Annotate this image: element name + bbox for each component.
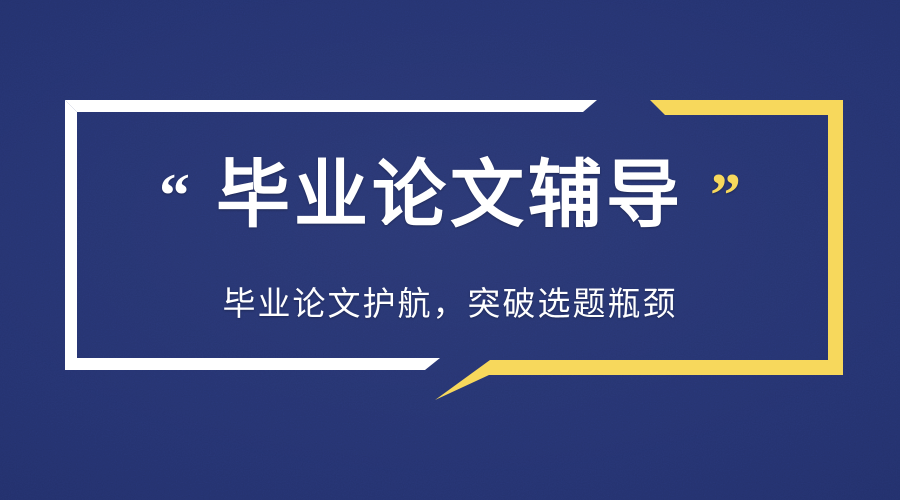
- promo-banner: “ 毕业论文辅导 ” 毕业论文护航，突破选题瓶颈: [0, 0, 900, 500]
- page-subtitle: 毕业论文护航，突破选题瓶颈: [223, 277, 678, 325]
- banner-text-block: “ 毕业论文辅导 ” 毕业论文护航，突破选题瓶颈: [0, 0, 900, 500]
- title-row: “ 毕业论文辅导 ”: [0, 157, 900, 232]
- opening-quote-icon: “: [159, 165, 190, 227]
- page-title: 毕业论文辅导: [216, 157, 684, 232]
- closing-quote-icon: ”: [710, 165, 741, 227]
